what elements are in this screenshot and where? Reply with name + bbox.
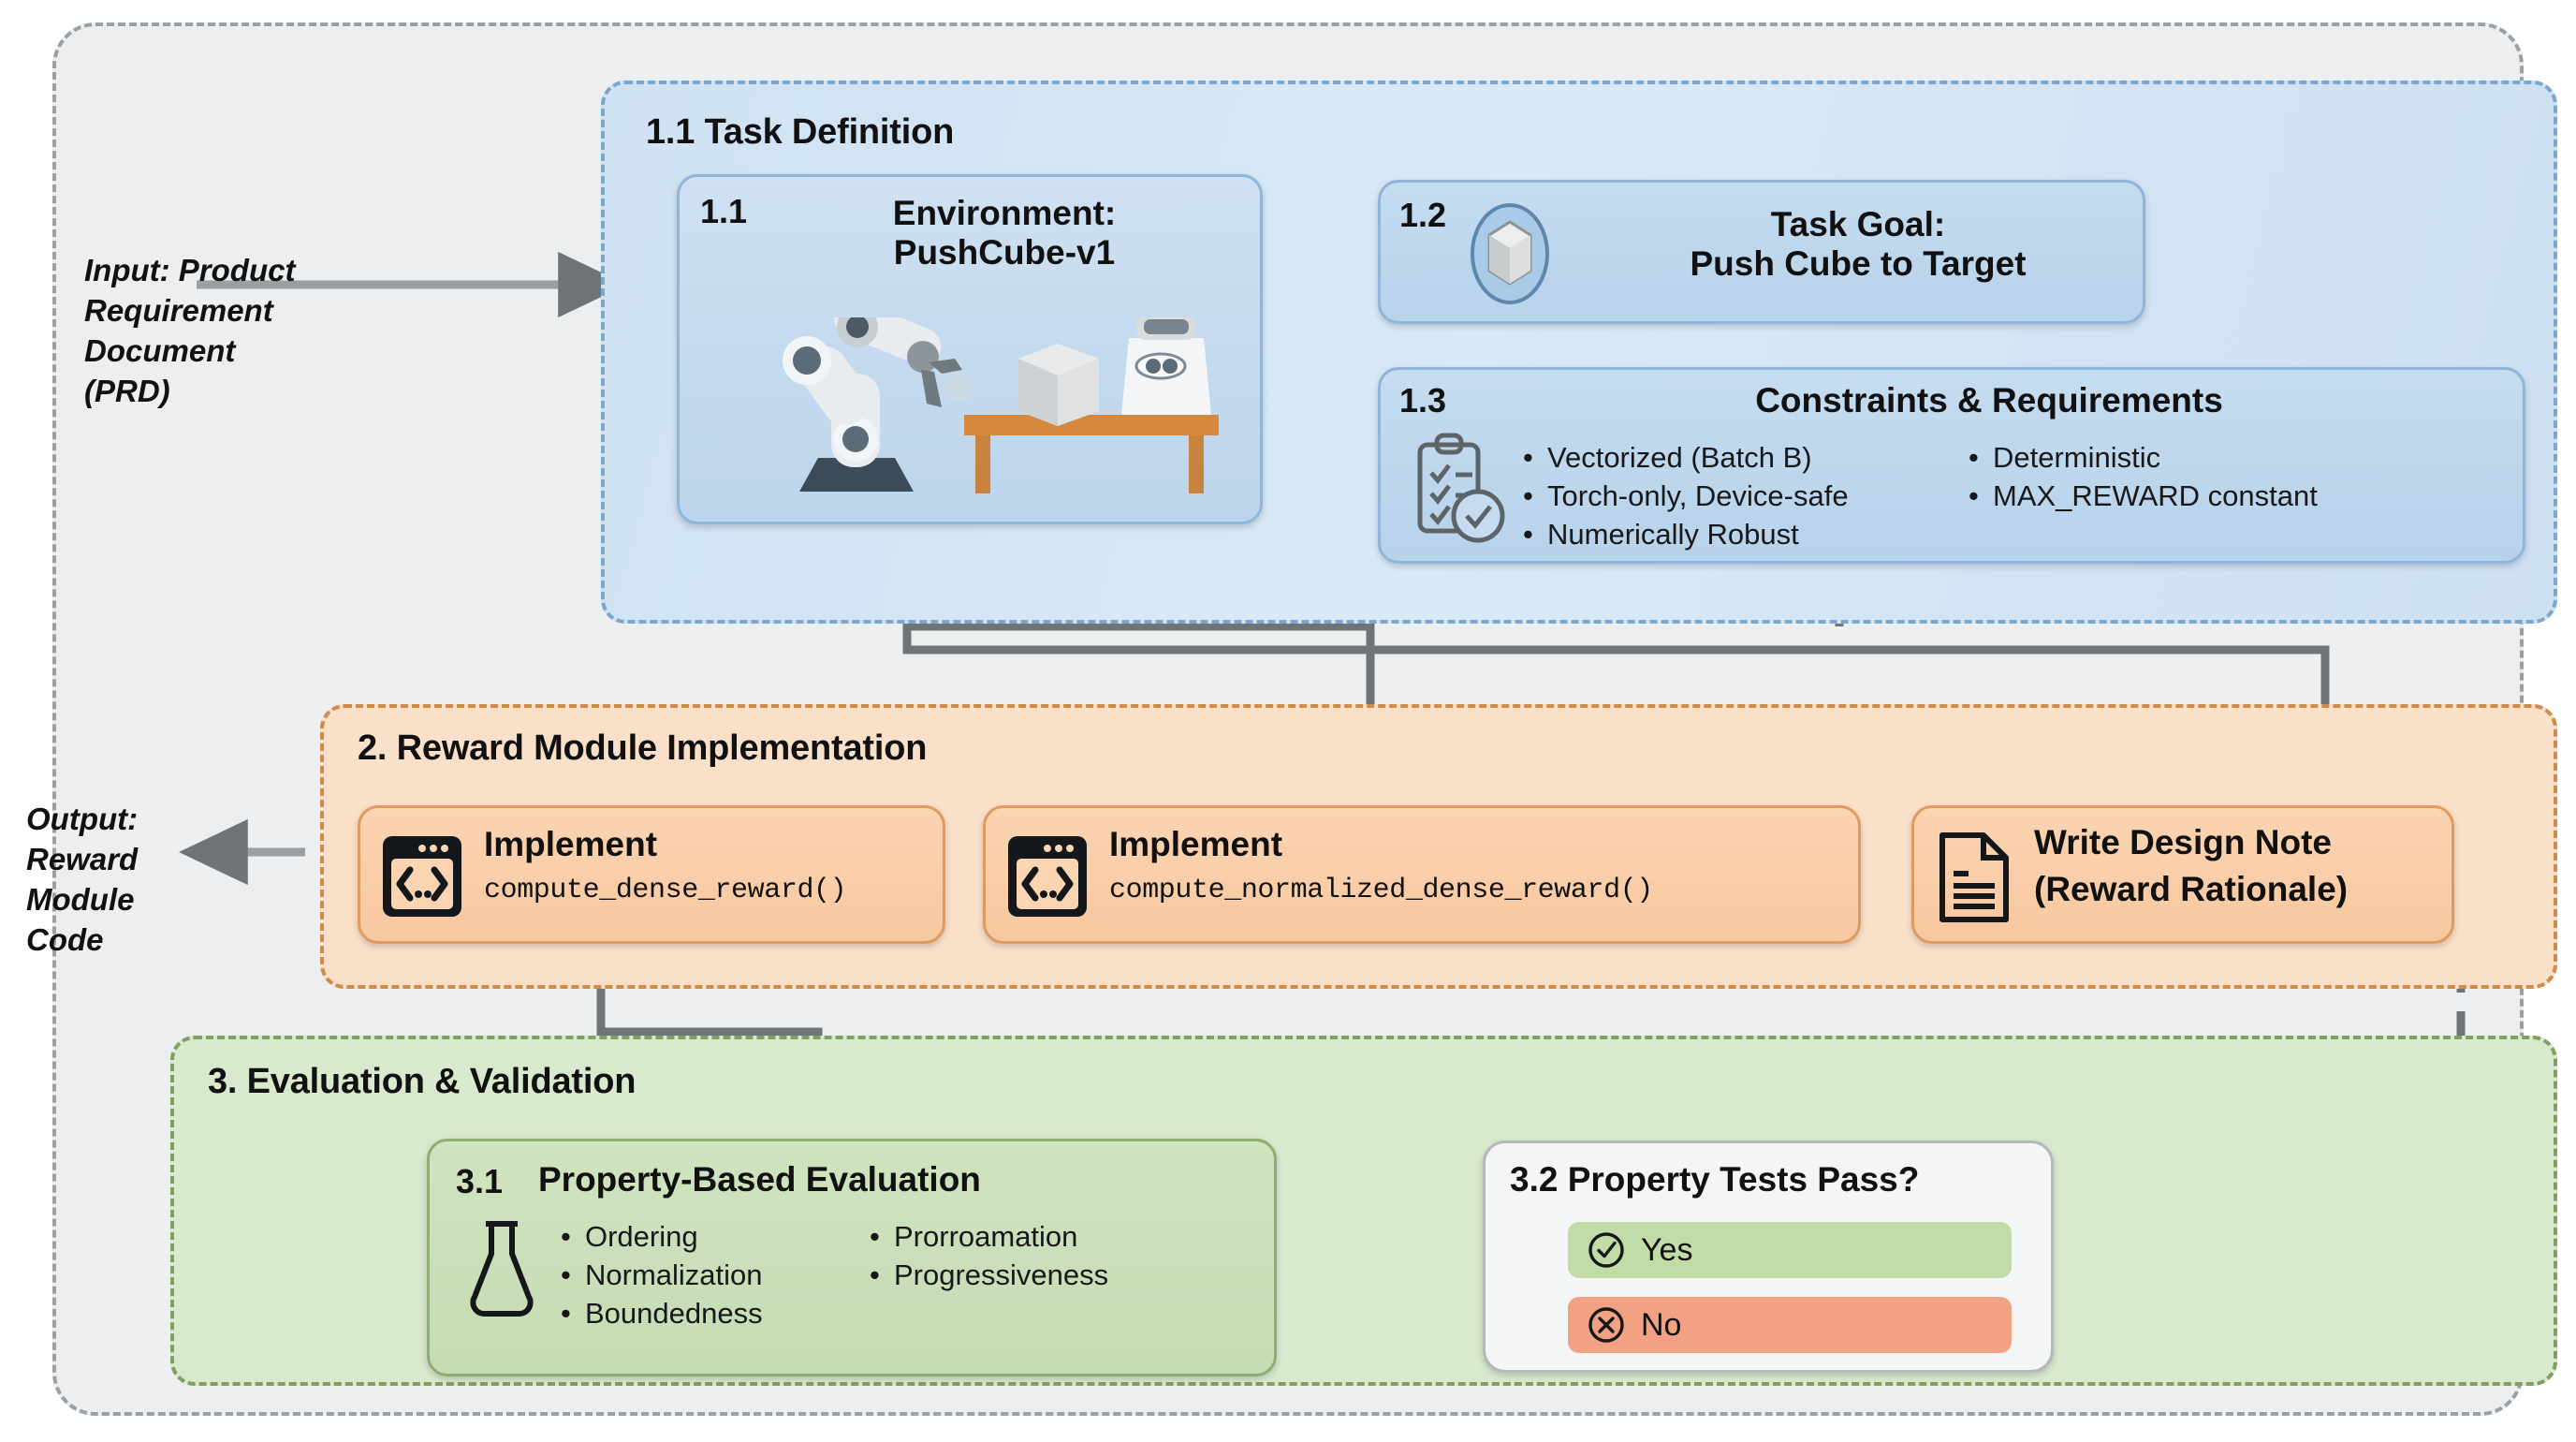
decision-option-no[interactable]: No — [1568, 1297, 2012, 1353]
property-bullets-right: Prorroamation Progressiveness — [870, 1218, 1108, 1295]
document-lines-icon — [1935, 831, 2015, 924]
clipboard-check-icon — [1411, 430, 1508, 546]
card-number-3-1: 3.1 — [456, 1162, 503, 1201]
diagram-canvas: Input: Product Requirement Document (PRD… — [52, 22, 2524, 1416]
constraints-bullets-right: Deterministic MAX_REWARD constant — [1969, 439, 2318, 516]
section-title-task-definition: 1.1 Task Definition — [646, 112, 954, 153]
card-number-1-1: 1.1 — [700, 192, 747, 231]
card-task-goal[interactable]: 1.2 Task Goal: Push Cube to Target — [1378, 180, 2145, 324]
card-write-design-note[interactable]: Write Design Note (Reward Rationale) — [1911, 805, 2454, 944]
section-title-evaluation: 3. Evaluation & Validation — [208, 1062, 636, 1102]
constraints-bullets-left: Vectorized (Batch B) Torch-only, Device-… — [1523, 439, 1849, 554]
card-property-based-evaluation[interactable]: 3.1 Property-Based Evaluation Ordering N… — [427, 1139, 1277, 1376]
card-environment-title: Environment: PushCube-v1 — [781, 194, 1228, 272]
card-implement-dense-reward[interactable]: Implement compute_dense_reward() — [358, 805, 945, 944]
decision-title: 3.2 Property Tests Pass? — [1510, 1160, 1919, 1199]
property-bullets-left: Ordering Normalization Boundedness — [561, 1218, 763, 1333]
section-title-reward-module: 2. Reward Module Implementation — [358, 728, 927, 769]
input-label: Input: Product Requirement Document (PRD… — [84, 251, 304, 412]
check-circle-icon — [1587, 1230, 1626, 1270]
decision-option-yes[interactable]: Yes — [1568, 1222, 2012, 1278]
card-decision-tests-pass[interactable]: 3.2 Property Tests Pass? Yes No — [1483, 1140, 2054, 1373]
implement-normalized-code: compute_normalized_dense_reward() — [1109, 875, 1653, 907]
code-window-icon — [1004, 832, 1090, 920]
card-constraints[interactable]: 1.3 Constraints & Requirements Vectorize… — [1378, 367, 2525, 564]
cube-icon — [1459, 201, 1560, 306]
output-left-label: Output: Reward Module Code — [26, 800, 185, 961]
code-window-icon — [379, 832, 465, 920]
card-task-goal-title: Task Goal: Push Cube to Target — [1596, 205, 2120, 284]
card-constraints-title: Constraints & Requirements — [1493, 381, 2485, 420]
implement-dense-title: Implement — [484, 825, 657, 864]
decision-option-yes-label: Yes — [1641, 1232, 1692, 1269]
write-design-note-title: Write Design Note — [2034, 823, 2332, 862]
flask-icon — [461, 1216, 542, 1321]
card-number-1-3: 1.3 — [1399, 381, 1446, 420]
card-environment[interactable]: 1.1 Environment: PushCube-v1 — [677, 174, 1263, 524]
card-number-1-2: 1.2 — [1399, 196, 1446, 235]
implement-dense-code: compute_dense_reward() — [484, 875, 846, 907]
robot-arm-illustration — [721, 317, 1245, 505]
implement-normalized-title: Implement — [1109, 825, 1282, 864]
x-circle-icon — [1587, 1305, 1626, 1345]
card-implement-normalized-dense-reward[interactable]: Implement compute_normalized_dense_rewar… — [983, 805, 1861, 944]
property-eval-title: Property-Based Evaluation — [538, 1160, 981, 1199]
write-design-note-subtitle: (Reward Rationale) — [2034, 870, 2348, 909]
decision-option-no-label: No — [1641, 1307, 1681, 1344]
